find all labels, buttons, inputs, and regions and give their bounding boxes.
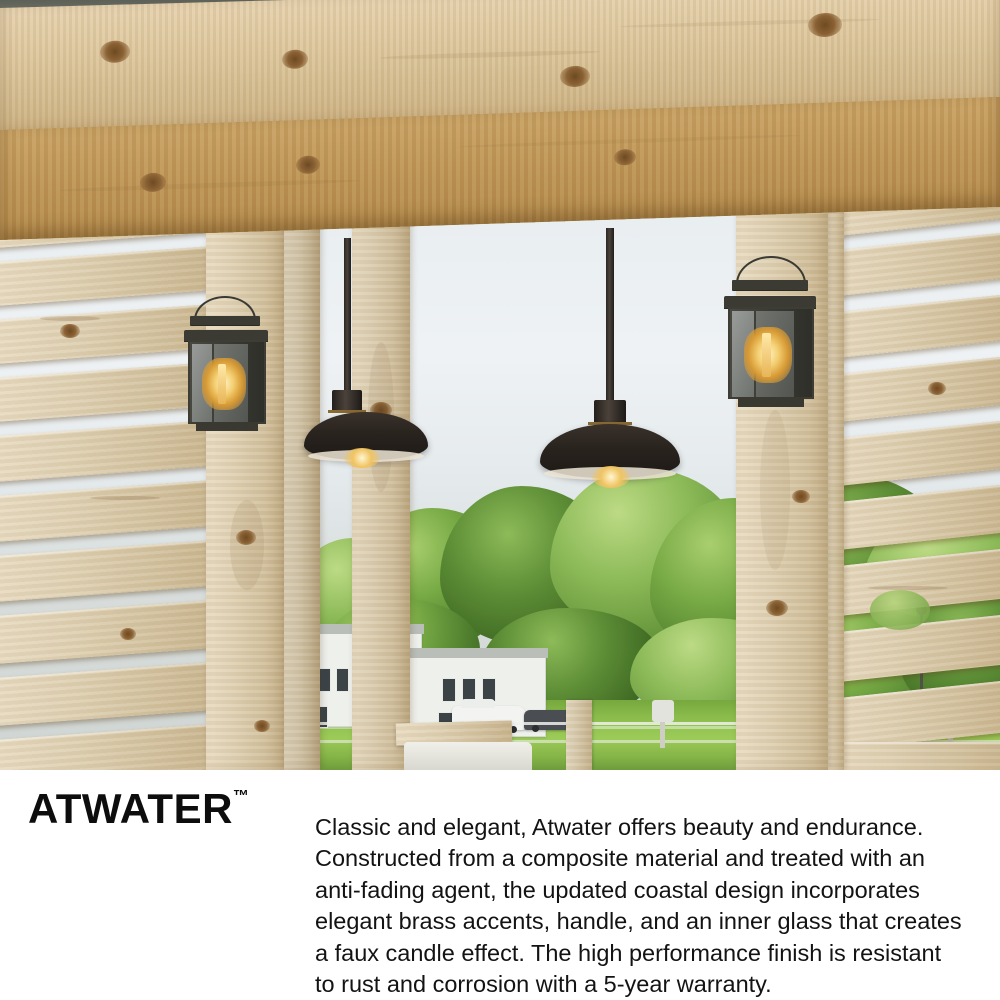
- lantern-base: [738, 397, 804, 407]
- white-tank: [652, 700, 674, 722]
- hero-photo: [0, 0, 1000, 770]
- slat-wall-left: [0, 196, 206, 770]
- caption-panel: ATWATER™ Classic and elegant, Atwater of…: [0, 770, 1000, 1000]
- trademark-symbol: ™: [233, 788, 249, 805]
- shrub-foreground: [870, 590, 930, 630]
- house-center-roof: [400, 648, 548, 658]
- product-description: Classic and elegant, Atwater offers beau…: [315, 812, 965, 1000]
- pendant-bulb-glow: [592, 466, 630, 488]
- pendant-bulb-glow: [344, 448, 380, 468]
- lantern-base: [196, 422, 258, 431]
- brand-name: ATWATER™: [28, 785, 249, 833]
- pendant-socket-cap: [332, 390, 362, 412]
- lantern-candle-bulb: [218, 364, 226, 404]
- car-wheel: [532, 725, 539, 732]
- pendant-socket-cap: [594, 400, 626, 424]
- barn-pendant-right: [538, 228, 684, 478]
- wall-stud-right: [826, 186, 844, 770]
- foreground-stone-block: [404, 742, 532, 770]
- lantern-wall-sconce-left: [176, 296, 280, 434]
- lantern-cap: [190, 316, 260, 325]
- pendant-rod: [606, 228, 614, 406]
- foreground-fence-post: [566, 700, 592, 770]
- lantern-body: [728, 307, 814, 399]
- lantern-candle-bulb: [762, 333, 771, 377]
- pendant-rod: [344, 238, 351, 396]
- lantern-wall-sconce-right: [716, 256, 826, 408]
- house-window: [336, 668, 349, 692]
- slat-wall-right: [828, 186, 1000, 770]
- lantern-body: [188, 340, 266, 424]
- lantern-cap: [732, 280, 808, 290]
- house-window: [442, 678, 456, 702]
- brand-word: ATWATER: [28, 785, 233, 832]
- post-left-inner: [206, 200, 284, 770]
- barn-pendant-left: [306, 238, 436, 468]
- product-image-page: ATWATER™ Classic and elegant, Atwater of…: [0, 0, 1000, 1000]
